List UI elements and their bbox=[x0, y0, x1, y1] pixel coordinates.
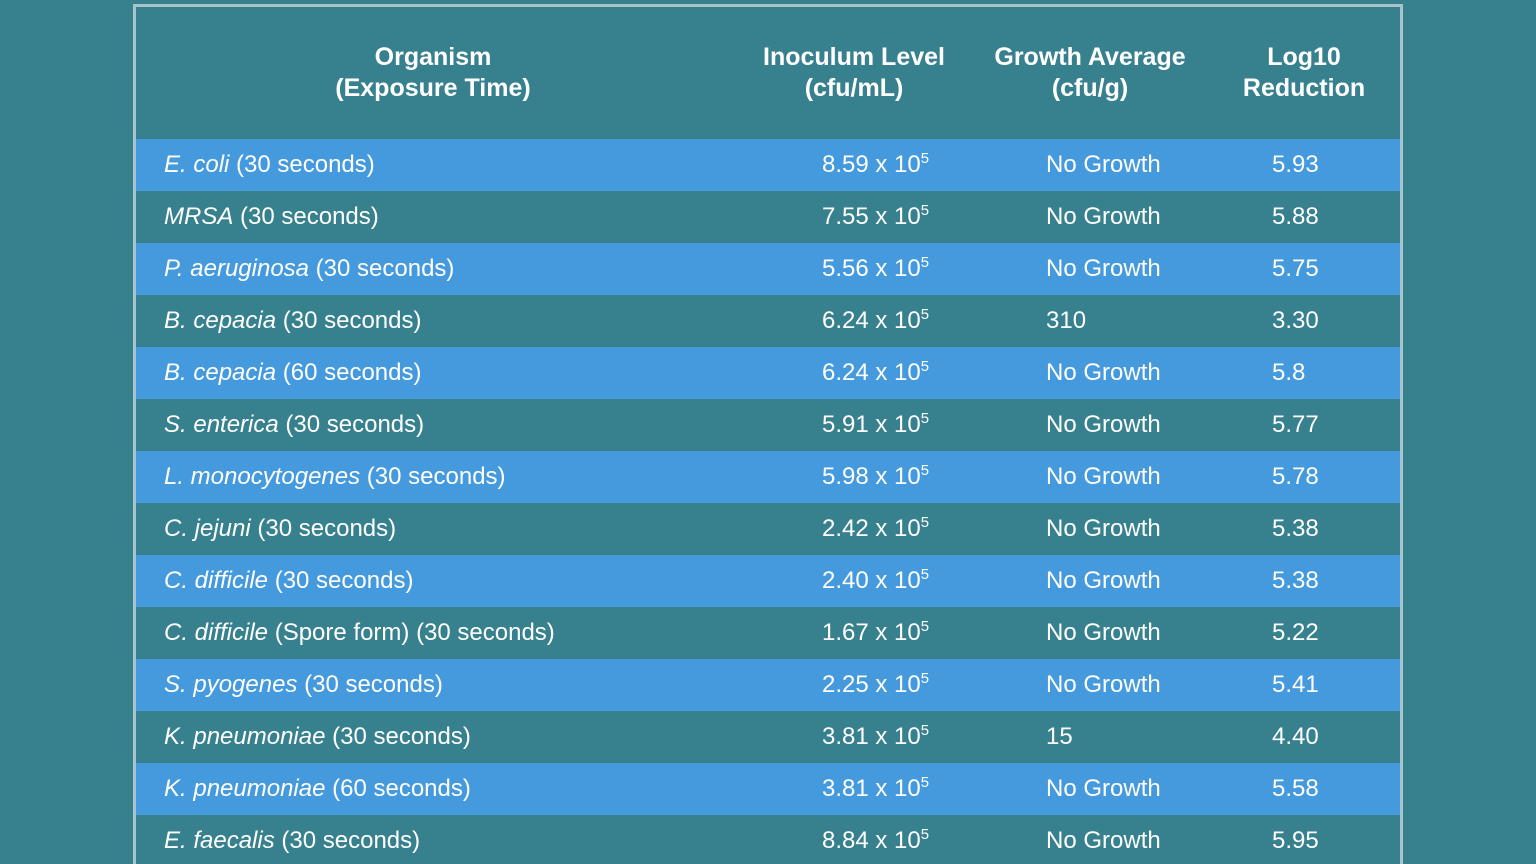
inoculum-mantissa: 8.59 x 10 bbox=[822, 151, 921, 178]
cell-log10-reduction: 3.30 bbox=[1208, 295, 1400, 347]
cell-inoculum-level: 6.24 x 105 bbox=[736, 295, 972, 347]
cell-organism: B. cepacia (30 seconds) bbox=[136, 295, 736, 347]
organism-exposure-time: (60 seconds) bbox=[276, 359, 421, 386]
inoculum-mantissa: 8.84 x 10 bbox=[822, 827, 921, 854]
cell-organism: C. difficile (Spore form) (30 seconds) bbox=[136, 607, 736, 659]
organism-exposure-time: (30 seconds) bbox=[276, 307, 421, 334]
inoculum-exponent: 5 bbox=[921, 827, 929, 843]
organism-species-name: E. faecalis bbox=[164, 827, 275, 854]
organism-exposure-time: (30 seconds) bbox=[360, 463, 505, 490]
cell-inoculum-level: 2.40 x 105 bbox=[736, 555, 972, 607]
cell-inoculum-level: 6.24 x 105 bbox=[736, 347, 972, 399]
organism-species-name: S. enterica bbox=[164, 411, 279, 438]
inoculum-exponent: 5 bbox=[921, 463, 929, 479]
organism-exposure-time: (30 seconds) bbox=[233, 203, 378, 230]
inoculum-mantissa: 2.25 x 10 bbox=[822, 671, 921, 698]
organism-exposure-time: (30 seconds) bbox=[297, 671, 442, 698]
cell-log10-reduction: 4.40 bbox=[1208, 711, 1400, 763]
table-row: B. cepacia (30 seconds)6.24 x 1053103.30 bbox=[136, 295, 1400, 347]
column-header-log10-line1: Log10 bbox=[1214, 42, 1394, 73]
cell-log10-reduction: 5.8 bbox=[1208, 347, 1400, 399]
cell-log10-reduction: 5.95 bbox=[1208, 815, 1400, 864]
cell-log10-reduction: 5.38 bbox=[1208, 503, 1400, 555]
cell-organism: L. monocytogenes (30 seconds) bbox=[136, 451, 736, 503]
column-header-organism-line2: (Exposure Time) bbox=[136, 73, 730, 104]
inoculum-exponent: 5 bbox=[921, 151, 929, 167]
cell-growth-average: No Growth bbox=[972, 451, 1208, 503]
organism-exposure-time: (30 seconds) bbox=[279, 411, 424, 438]
cell-growth-average: No Growth bbox=[972, 243, 1208, 295]
cell-growth-average: No Growth bbox=[972, 555, 1208, 607]
inoculum-mantissa: 5.91 x 10 bbox=[822, 411, 921, 438]
cell-log10-reduction: 5.41 bbox=[1208, 659, 1400, 711]
cell-growth-average: No Growth bbox=[972, 139, 1208, 191]
cell-log10-reduction: 5.22 bbox=[1208, 607, 1400, 659]
column-header-growth-line1: Growth Average bbox=[978, 42, 1202, 73]
organism-exposure-time: (30 seconds) bbox=[268, 567, 413, 594]
table-row: K. pneumoniae (60 seconds)3.81 x 105No G… bbox=[136, 763, 1400, 815]
column-header-organism: Organism (Exposure Time) bbox=[136, 7, 736, 139]
inoculum-exponent: 5 bbox=[921, 671, 929, 687]
cell-growth-average: No Growth bbox=[972, 815, 1208, 864]
inoculum-mantissa: 1.67 x 10 bbox=[822, 619, 921, 646]
cell-log10-reduction: 5.78 bbox=[1208, 451, 1400, 503]
cell-inoculum-level: 5.91 x 105 bbox=[736, 399, 972, 451]
cell-growth-average: No Growth bbox=[972, 399, 1208, 451]
organism-exposure-time: (60 seconds) bbox=[325, 775, 470, 802]
results-table-frame: Organism (Exposure Time) Inoculum Level … bbox=[133, 4, 1403, 864]
inoculum-exponent: 5 bbox=[921, 775, 929, 791]
organism-species-name: P. aeruginosa bbox=[164, 255, 309, 282]
cell-inoculum-level: 8.84 x 105 bbox=[736, 815, 972, 864]
column-header-inoculum-line2: (cfu/mL) bbox=[742, 73, 966, 104]
table-row: MRSA (30 seconds)7.55 x 105No Growth5.88 bbox=[136, 191, 1400, 243]
cell-growth-average: No Growth bbox=[972, 191, 1208, 243]
cell-organism: K. pneumoniae (30 seconds) bbox=[136, 711, 736, 763]
cell-inoculum-level: 2.25 x 105 bbox=[736, 659, 972, 711]
table-row: L. monocytogenes (30 seconds)5.98 x 105N… bbox=[136, 451, 1400, 503]
table-row: K. pneumoniae (30 seconds)3.81 x 105154.… bbox=[136, 711, 1400, 763]
cell-organism: S. enterica (30 seconds) bbox=[136, 399, 736, 451]
inoculum-exponent: 5 bbox=[921, 723, 929, 739]
cell-organism: B. cepacia (60 seconds) bbox=[136, 347, 736, 399]
cell-log10-reduction: 5.93 bbox=[1208, 139, 1400, 191]
cell-log10-reduction: 5.58 bbox=[1208, 763, 1400, 815]
organism-species-name: C. jejuni bbox=[164, 515, 251, 542]
cell-inoculum-level: 5.56 x 105 bbox=[736, 243, 972, 295]
cell-log10-reduction: 5.88 bbox=[1208, 191, 1400, 243]
table-row: C. difficile (30 seconds)2.40 x 105No Gr… bbox=[136, 555, 1400, 607]
organism-exposure-time: (Spore form) (30 seconds) bbox=[268, 619, 555, 646]
table-row: P. aeruginosa (30 seconds)5.56 x 105No G… bbox=[136, 243, 1400, 295]
organism-species-name: MRSA bbox=[164, 203, 233, 230]
cell-log10-reduction: 5.75 bbox=[1208, 243, 1400, 295]
cell-growth-average: No Growth bbox=[972, 607, 1208, 659]
inoculum-mantissa: 3.81 x 10 bbox=[822, 775, 921, 802]
cell-growth-average: 15 bbox=[972, 711, 1208, 763]
cell-log10-reduction: 5.38 bbox=[1208, 555, 1400, 607]
antimicrobial-efficacy-table: Organism (Exposure Time) Inoculum Level … bbox=[136, 7, 1400, 864]
cell-inoculum-level: 3.81 x 105 bbox=[736, 763, 972, 815]
cell-inoculum-level: 3.81 x 105 bbox=[736, 711, 972, 763]
cell-growth-average: No Growth bbox=[972, 347, 1208, 399]
column-header-inoculum: Inoculum Level (cfu/mL) bbox=[736, 7, 972, 139]
inoculum-mantissa: 3.81 x 10 bbox=[822, 723, 921, 750]
cell-organism: MRSA (30 seconds) bbox=[136, 191, 736, 243]
inoculum-exponent: 5 bbox=[921, 567, 929, 583]
organism-species-name: K. pneumoniae bbox=[164, 723, 325, 750]
cell-organism: P. aeruginosa (30 seconds) bbox=[136, 243, 736, 295]
table-row: S. pyogenes (30 seconds)2.25 x 105No Gro… bbox=[136, 659, 1400, 711]
cell-organism: E. coli (30 seconds) bbox=[136, 139, 736, 191]
table-row: S. enterica (30 seconds)5.91 x 105No Gro… bbox=[136, 399, 1400, 451]
cell-growth-average: No Growth bbox=[972, 503, 1208, 555]
inoculum-exponent: 5 bbox=[921, 359, 929, 375]
cell-organism: K. pneumoniae (60 seconds) bbox=[136, 763, 736, 815]
organism-exposure-time: (30 seconds) bbox=[229, 151, 374, 178]
table-row: C. difficile (Spore form) (30 seconds)1.… bbox=[136, 607, 1400, 659]
inoculum-mantissa: 2.42 x 10 bbox=[822, 515, 921, 542]
table-header: Organism (Exposure Time) Inoculum Level … bbox=[136, 7, 1400, 139]
table-row: E. faecalis (30 seconds)8.84 x 105No Gro… bbox=[136, 815, 1400, 864]
cell-organism: C. difficile (30 seconds) bbox=[136, 555, 736, 607]
column-header-log10-line2: Reduction bbox=[1214, 73, 1394, 104]
inoculum-mantissa: 6.24 x 10 bbox=[822, 359, 921, 386]
table-body: E. coli (30 seconds)8.59 x 105No Growth5… bbox=[136, 139, 1400, 864]
organism-species-name: E. coli bbox=[164, 151, 229, 178]
organism-species-name: K. pneumoniae bbox=[164, 775, 325, 802]
cell-inoculum-level: 2.42 x 105 bbox=[736, 503, 972, 555]
inoculum-exponent: 5 bbox=[921, 619, 929, 635]
column-header-organism-line1: Organism bbox=[136, 42, 730, 73]
cell-organism: S. pyogenes (30 seconds) bbox=[136, 659, 736, 711]
cell-log10-reduction: 5.77 bbox=[1208, 399, 1400, 451]
column-header-inoculum-line1: Inoculum Level bbox=[742, 42, 966, 73]
inoculum-mantissa: 7.55 x 10 bbox=[822, 203, 921, 230]
inoculum-mantissa: 5.98 x 10 bbox=[822, 463, 921, 490]
inoculum-exponent: 5 bbox=[921, 255, 929, 271]
table-row: B. cepacia (60 seconds)6.24 x 105No Grow… bbox=[136, 347, 1400, 399]
organism-species-name: C. difficile bbox=[164, 619, 268, 646]
inoculum-exponent: 5 bbox=[921, 411, 929, 427]
cell-inoculum-level: 5.98 x 105 bbox=[736, 451, 972, 503]
inoculum-mantissa: 2.40 x 10 bbox=[822, 567, 921, 594]
cell-growth-average: No Growth bbox=[972, 763, 1208, 815]
cell-organism: C. jejuni (30 seconds) bbox=[136, 503, 736, 555]
cell-inoculum-level: 7.55 x 105 bbox=[736, 191, 972, 243]
cell-inoculum-level: 1.67 x 105 bbox=[736, 607, 972, 659]
organism-species-name: B. cepacia bbox=[164, 359, 276, 386]
table-row: C. jejuni (30 seconds)2.42 x 105No Growt… bbox=[136, 503, 1400, 555]
inoculum-exponent: 5 bbox=[921, 203, 929, 219]
column-header-growth-line2: (cfu/g) bbox=[978, 73, 1202, 104]
cell-growth-average: 310 bbox=[972, 295, 1208, 347]
organism-exposure-time: (30 seconds) bbox=[251, 515, 396, 542]
table-row: E. coli (30 seconds)8.59 x 105No Growth5… bbox=[136, 139, 1400, 191]
organism-species-name: B. cepacia bbox=[164, 307, 276, 334]
organism-exposure-time: (30 seconds) bbox=[309, 255, 454, 282]
cell-organism: E. faecalis (30 seconds) bbox=[136, 815, 736, 864]
column-header-log10-reduction: Log10 Reduction bbox=[1208, 7, 1400, 139]
cell-inoculum-level: 8.59 x 105 bbox=[736, 139, 972, 191]
organism-species-name: L. monocytogenes bbox=[164, 463, 360, 490]
organism-species-name: C. difficile bbox=[164, 567, 268, 594]
inoculum-exponent: 5 bbox=[921, 515, 929, 531]
organism-species-name: S. pyogenes bbox=[164, 671, 297, 698]
table-header-row: Organism (Exposure Time) Inoculum Level … bbox=[136, 7, 1400, 139]
cell-growth-average: No Growth bbox=[972, 659, 1208, 711]
organism-exposure-time: (30 seconds) bbox=[275, 827, 420, 854]
organism-exposure-time: (30 seconds) bbox=[325, 723, 470, 750]
inoculum-exponent: 5 bbox=[921, 307, 929, 323]
inoculum-mantissa: 6.24 x 10 bbox=[822, 307, 921, 334]
inoculum-mantissa: 5.56 x 10 bbox=[822, 255, 921, 282]
column-header-growth-average: Growth Average (cfu/g) bbox=[972, 7, 1208, 139]
